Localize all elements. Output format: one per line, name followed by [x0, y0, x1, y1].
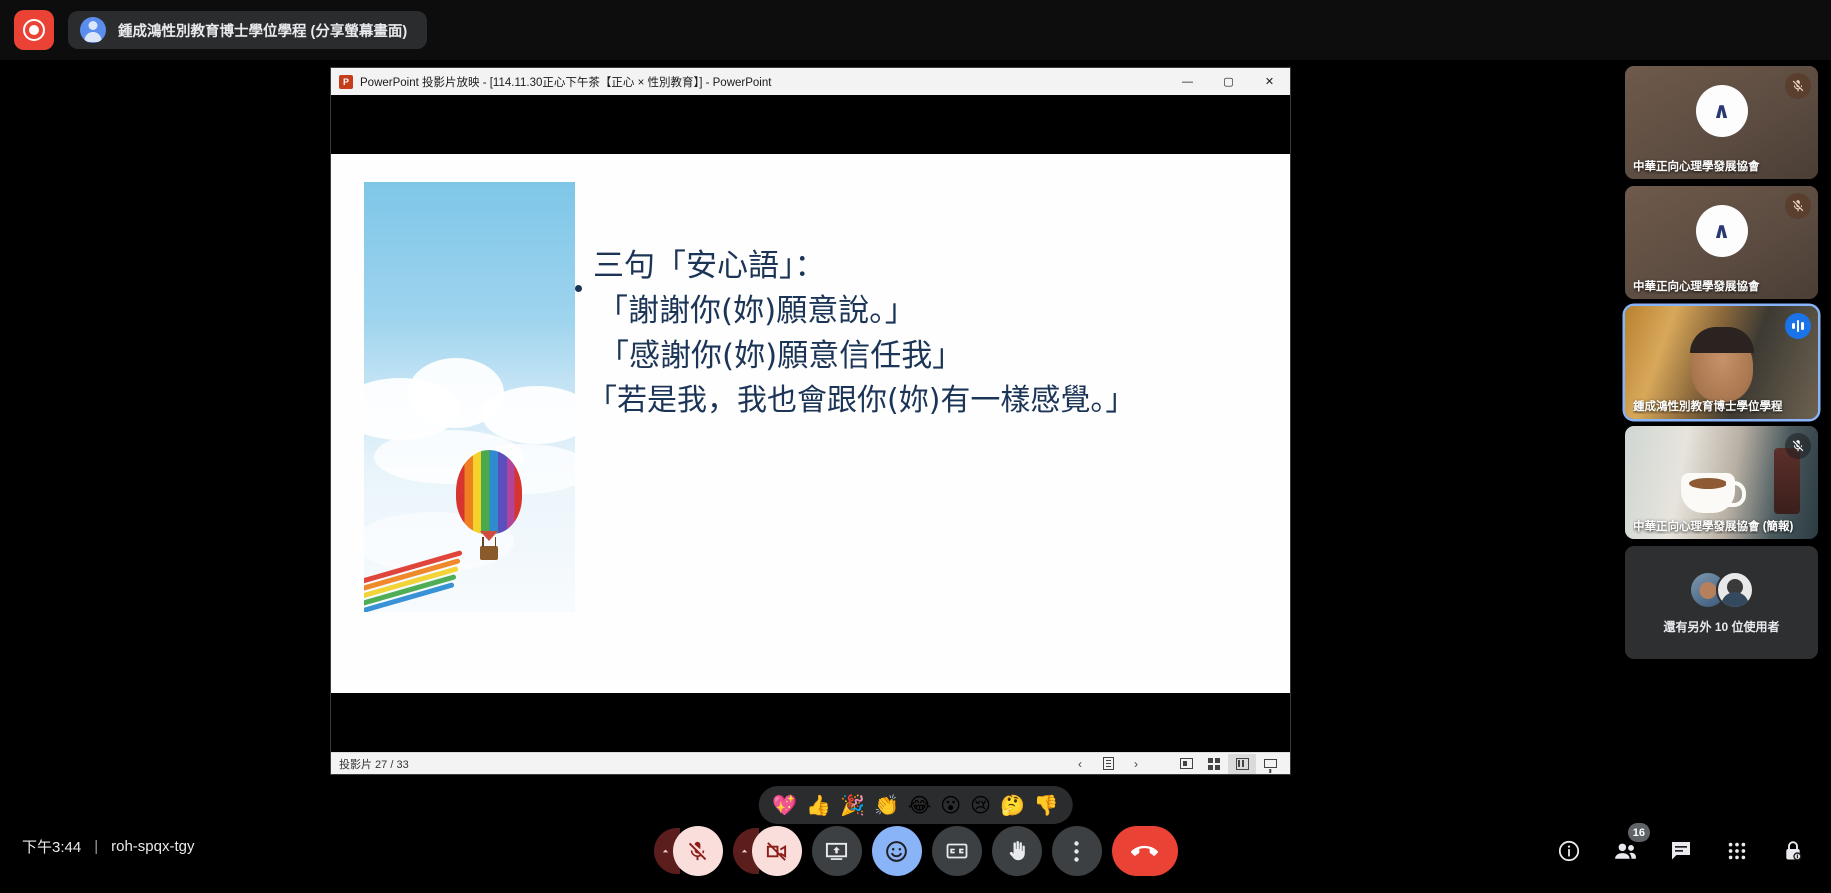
participant-tile[interactable]: ∧ 中華正向心理學發展協會	[1625, 186, 1818, 299]
meeting-meta: 下午3:44 | roh-spqx-tgy	[22, 836, 194, 857]
camera-control	[733, 826, 802, 876]
slide-counter: 投影片 27 / 33	[339, 756, 1066, 772]
chat-icon[interactable]	[1665, 835, 1697, 867]
presenting-title: 鍾成鴻性別教育博士學位學程 (分享螢幕畫面)	[118, 20, 407, 41]
slideshow-nav-controls: ‹ ›	[1066, 754, 1284, 774]
participant-tile[interactable]: ∧ 中華正向心理學發展協會	[1625, 66, 1818, 179]
meeting-bottom-bar: 下午3:44 | roh-spqx-tgy	[0, 808, 1831, 893]
mic-off-icon	[1785, 73, 1811, 99]
people-count-badge: 16	[1628, 823, 1650, 842]
current-time: 下午3:44	[22, 836, 81, 857]
powerpoint-window: P PowerPoint 投影片放映 - [114.11.30正心下午茶【正心 …	[331, 68, 1290, 774]
minimize-button[interactable]: —	[1167, 68, 1208, 95]
host-lock-icon[interactable]	[1777, 835, 1809, 867]
slide-line-2: 「謝謝你(妳)願意說。」	[593, 289, 1283, 334]
microphone-control	[654, 826, 723, 876]
participant-name: 中華正向心理學發展協會	[1633, 158, 1810, 174]
powerpoint-app-icon: P	[339, 75, 353, 89]
avatar	[1716, 571, 1754, 609]
notes-icon[interactable]	[1094, 754, 1122, 774]
balloon-sky-image	[364, 182, 575, 612]
previous-slide-button[interactable]: ‹	[1066, 754, 1094, 774]
slide-line-1: 三句「安心語」：	[593, 244, 1283, 289]
coffee-cup	[1681, 473, 1735, 513]
closed-captions-icon[interactable]	[932, 826, 982, 876]
logo-mark: ∧	[1713, 220, 1731, 242]
close-button[interactable]: ✕	[1249, 68, 1290, 95]
participant-tile[interactable]: 中華正向心理學發展協會 (簡報)	[1625, 426, 1818, 539]
reading-view-icon[interactable]	[1172, 754, 1200, 774]
avatar-group	[1689, 571, 1754, 609]
avatar	[80, 17, 106, 43]
organization-logo: ∧	[1696, 205, 1748, 257]
hot-air-balloon-icon	[442, 450, 537, 580]
emoji-reaction-icon[interactable]	[872, 826, 922, 876]
present-screen-icon[interactable]	[812, 826, 862, 876]
more-participants-tile[interactable]: 還有另外 10 位使用者	[1625, 546, 1818, 659]
participant-tile-active-speaker[interactable]: 鍾成鴻性別教育博士學位學程	[1625, 306, 1818, 419]
powerpoint-titlebar[interactable]: P PowerPoint 投影片放映 - [114.11.30正心下午茶【正心 …	[331, 68, 1290, 95]
presenter-view-icon[interactable]	[1256, 754, 1284, 774]
presenting-banner: 鍾成鴻性別教育博士學位學程 (分享螢幕畫面)	[0, 0, 1831, 60]
record-ring	[23, 19, 45, 41]
window-buttons: — ▢ ✕	[1167, 68, 1290, 95]
more-participants-label: 還有另外 10 位使用者	[1663, 618, 1779, 635]
end-call-icon[interactable]	[1112, 826, 1178, 876]
camera-off-icon[interactable]	[752, 826, 802, 876]
audio-bars	[1792, 320, 1804, 333]
slide-line-4: 「若是我，我也會跟你(妳)有一樣感覺。」	[575, 379, 1283, 423]
slide-text-body: 三句「安心語」： 「謝謝你(妳)願意說。」 「感謝你(妳)願意信任我」 「若是我…	[593, 244, 1283, 422]
organization-logo: ∧	[1696, 85, 1748, 137]
participant-name: 中華正向心理學發展協會 (簡報)	[1633, 518, 1810, 534]
slideshow-stage[interactable]: 三句「安心語」： 「謝謝你(妳)願意說。」 「感謝你(妳)願意信任我」 「若是我…	[331, 95, 1290, 752]
activities-grid-icon[interactable]	[1721, 835, 1753, 867]
maximize-button[interactable]: ▢	[1208, 68, 1249, 95]
logo-mark: ∧	[1713, 100, 1731, 122]
person-face	[1691, 332, 1753, 402]
meeting-right-controls: 16	[1553, 835, 1809, 867]
record-dot	[29, 25, 39, 35]
pen-tools-icon[interactable]	[1228, 754, 1256, 774]
people-icon[interactable]: 16	[1609, 835, 1641, 867]
record-icon[interactable]	[14, 10, 54, 50]
raise-hand-icon[interactable]	[992, 826, 1042, 876]
slide-bullet	[575, 285, 582, 292]
google-meet-window: 鍾成鴻性別教育博士學位學程 (分享螢幕畫面) P PowerPoint 投影片放…	[0, 0, 1831, 893]
participant-strip: ∧ 中華正向心理學發展協會 ∧ 中華正向心理學發展協會	[1625, 66, 1818, 659]
mic-off-icon[interactable]	[673, 826, 723, 876]
powerpoint-window-title: PowerPoint 投影片放映 - [114.11.30正心下午茶【正心 × …	[360, 74, 1167, 90]
next-slide-button[interactable]: ›	[1122, 754, 1150, 774]
info-icon[interactable]	[1553, 835, 1585, 867]
mic-off-icon	[1785, 433, 1811, 459]
meeting-code: roh-spqx-tgy	[111, 838, 194, 855]
slide-canvas: 三句「安心語」： 「謝謝你(妳)願意說。」 「感謝你(妳)願意信任我」 「若是我…	[331, 154, 1290, 693]
powerpoint-statusbar: 投影片 27 / 33 ‹ ›	[331, 752, 1290, 774]
mic-off-icon	[1785, 193, 1811, 219]
participant-name: 中華正向心理學發展協會	[1633, 278, 1810, 294]
speaking-icon	[1785, 313, 1811, 339]
presenting-chip[interactable]: 鍾成鴻性別教育博士學位學程 (分享螢幕畫面)	[68, 11, 427, 49]
more-options-icon[interactable]	[1052, 826, 1102, 876]
meta-separator: |	[94, 838, 98, 855]
slide-line-3: 「感謝你(妳)願意信任我」	[593, 334, 1283, 379]
participant-name: 鍾成鴻性別教育博士學位學程	[1633, 398, 1810, 414]
call-controls	[654, 826, 1178, 876]
slide-sorter-icon[interactable]	[1200, 754, 1228, 774]
